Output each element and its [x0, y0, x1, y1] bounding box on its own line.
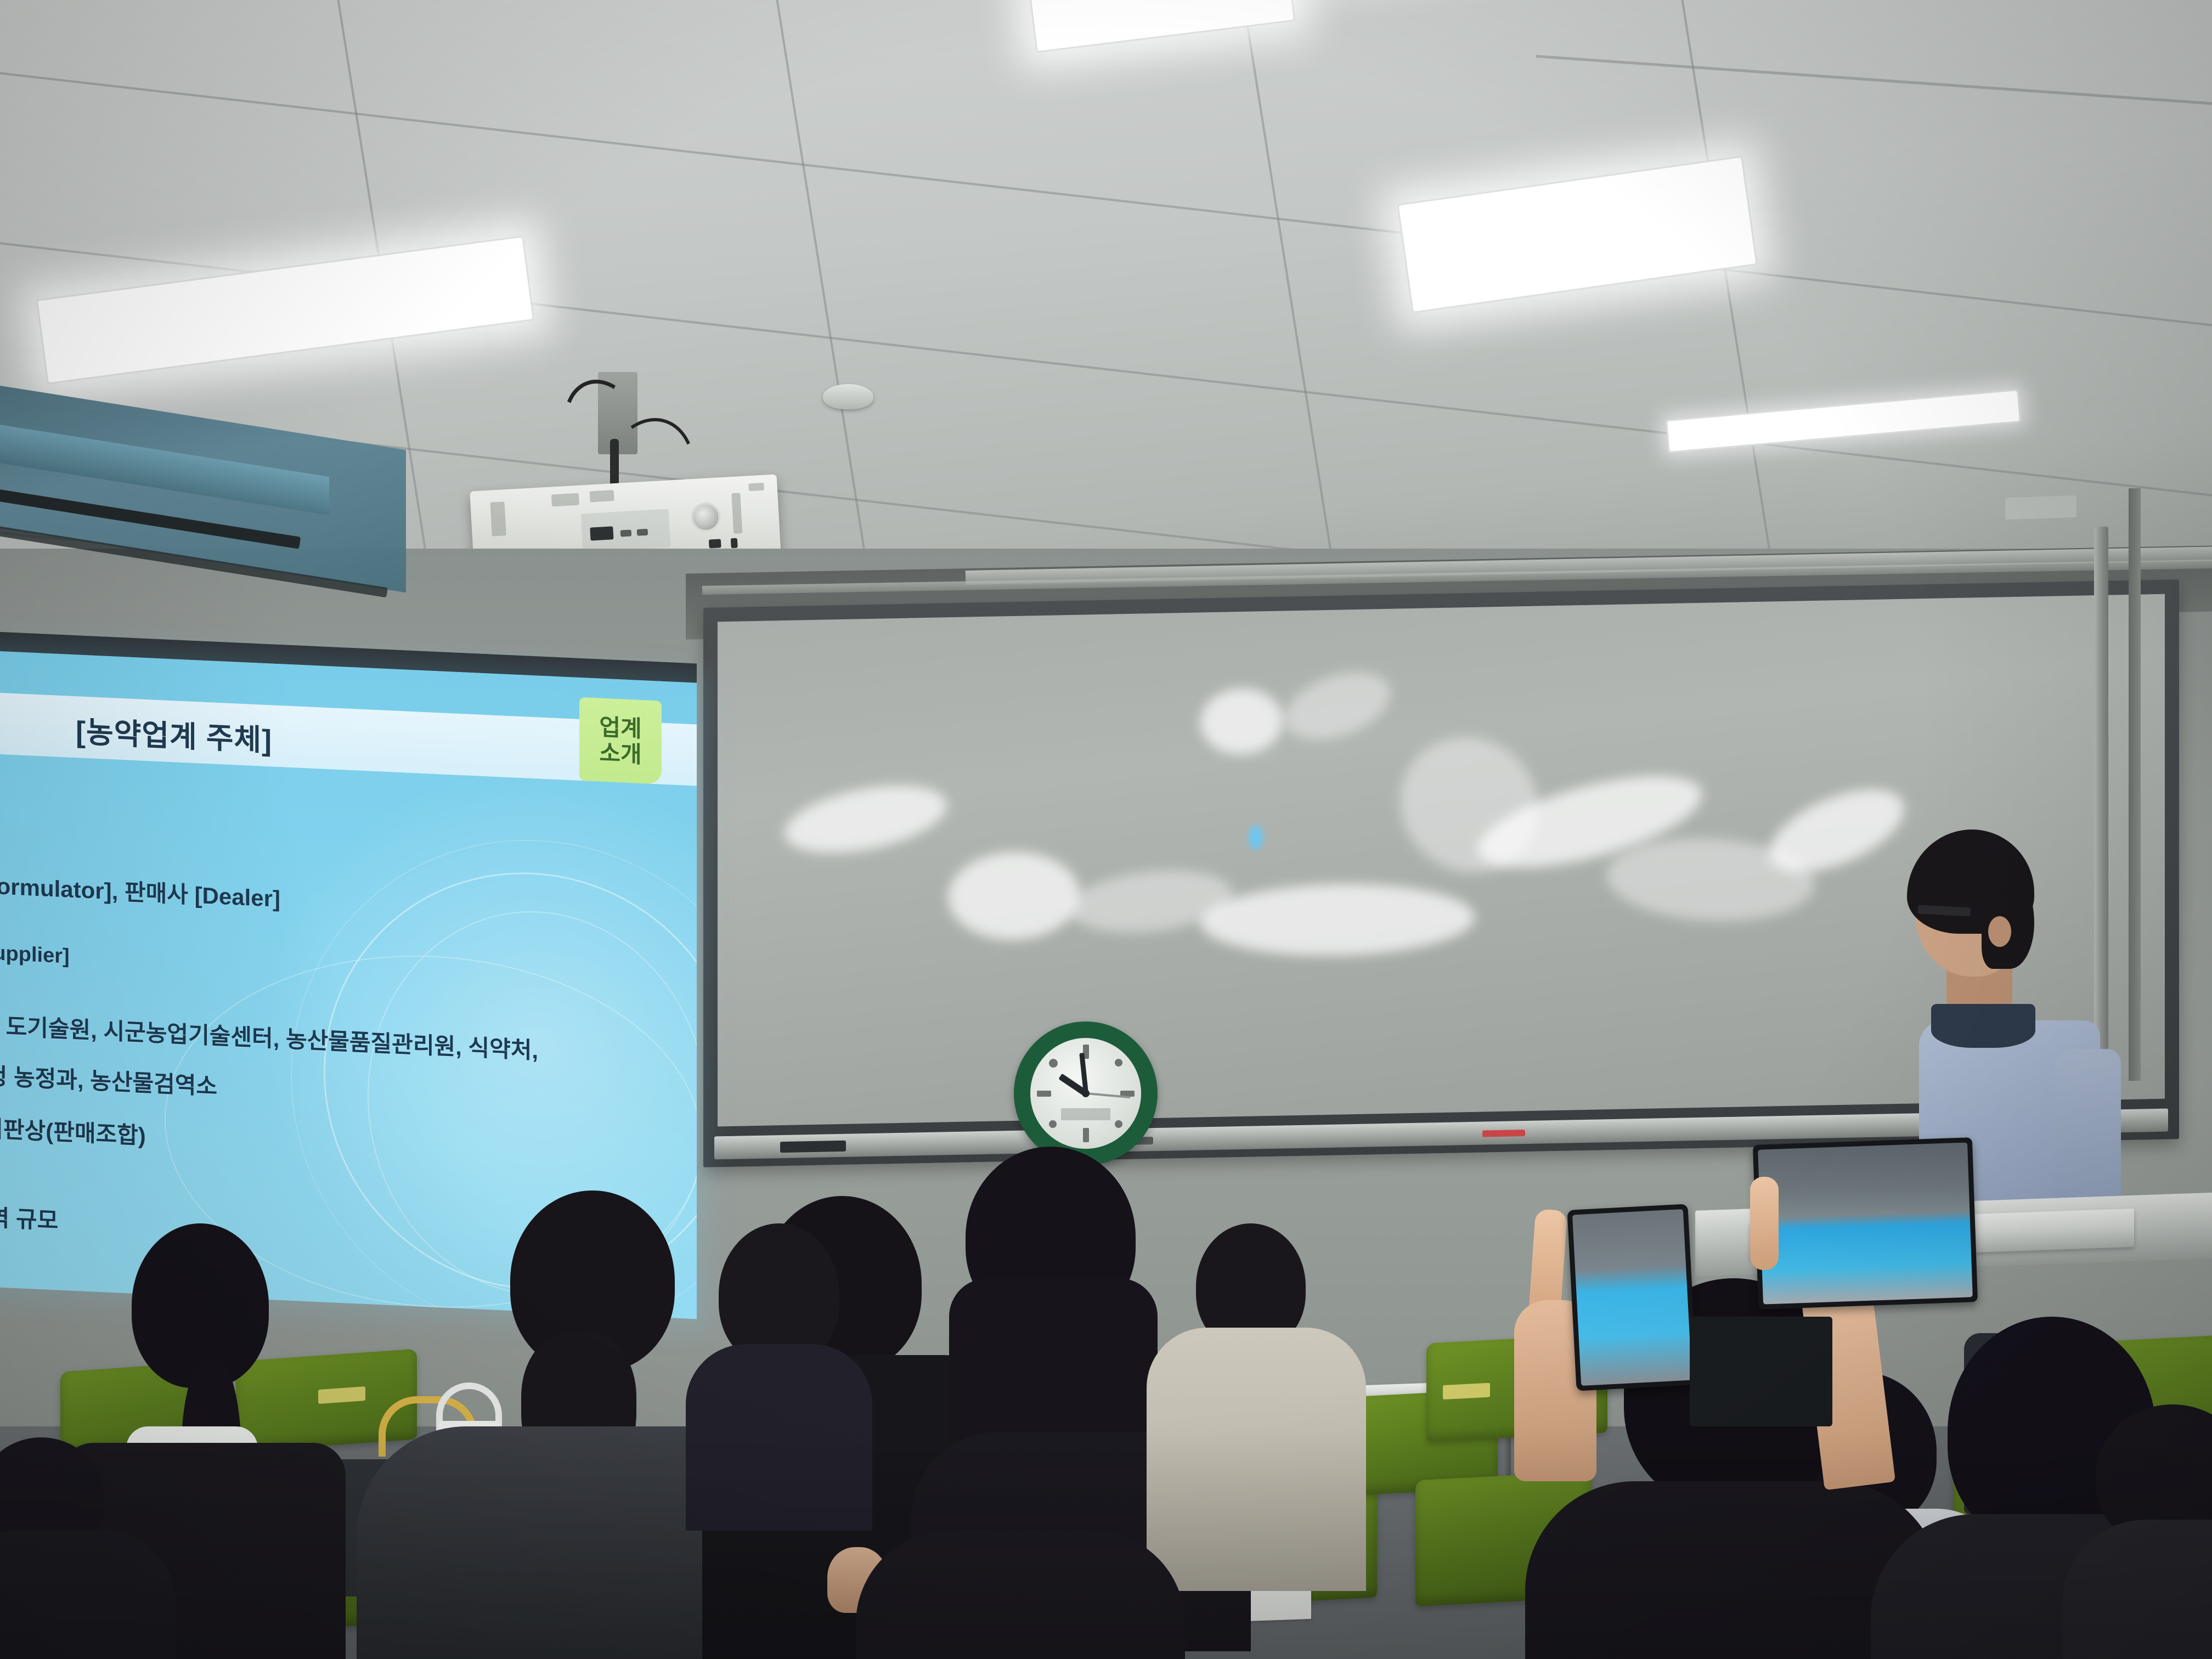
person-body [0, 1531, 176, 1659]
slide-body-line-1: [Formulator], 판매사 [Dealer] [0, 867, 280, 914]
audience-person [2074, 1404, 2212, 1659]
slide-title: [농약업계 주체] [76, 707, 272, 759]
wall-door-frame [2129, 488, 2141, 1081]
wall-clock [1014, 1022, 1158, 1165]
ceiling-light-panel [38, 238, 533, 383]
audience-person [702, 1223, 867, 1531]
chair-tag [1443, 1383, 1490, 1400]
clock-face [1030, 1038, 1141, 1149]
phone-screen [1572, 1209, 1692, 1386]
ceiling-light-panel [1667, 391, 2019, 452]
hand-on-tablet [1750, 1177, 1779, 1270]
wall-bracket [2005, 495, 2076, 520]
presenter-collar [1931, 1004, 2035, 1048]
red-marker [1482, 1130, 1525, 1137]
badge-line-2: 소개 [599, 740, 641, 768]
audience-person [856, 1531, 1185, 1659]
wall-pipe [2094, 527, 2108, 1086]
smartphone[interactable] [1567, 1204, 1697, 1391]
whiteboard-blue-mark [1249, 825, 1263, 849]
person-body [686, 1344, 872, 1531]
smoke-detector-icon [823, 384, 873, 409]
person-body [2063, 1520, 2212, 1659]
tablet-screen [1758, 1142, 1973, 1304]
monitor [1690, 1317, 1832, 1426]
slide-body-line-6: 전역 규모 [0, 1198, 58, 1236]
projector-lens-icon [690, 501, 721, 533]
slide-body-line-5: , 시판상(판매조합) [0, 1109, 146, 1151]
badge-line-1: 업계 [599, 714, 641, 742]
whiteboard-eraser [780, 1141, 846, 1153]
ceiling-light-panel [1027, 0, 1294, 51]
audience-person [0, 1437, 165, 1659]
tablet[interactable] [1753, 1137, 1978, 1310]
slide-body-line-2: Supplier] [0, 941, 70, 968]
slide-section-badge: 업계 소개 [579, 697, 662, 785]
lecture-hall-photo: [농약업계 주체] 업계 소개 [Formulator], 판매사 [Deale… [0, 0, 2212, 1659]
person-body [856, 1531, 1185, 1659]
presenter-ear [1988, 916, 2011, 947]
ceiling-light-panel [1398, 157, 1756, 312]
